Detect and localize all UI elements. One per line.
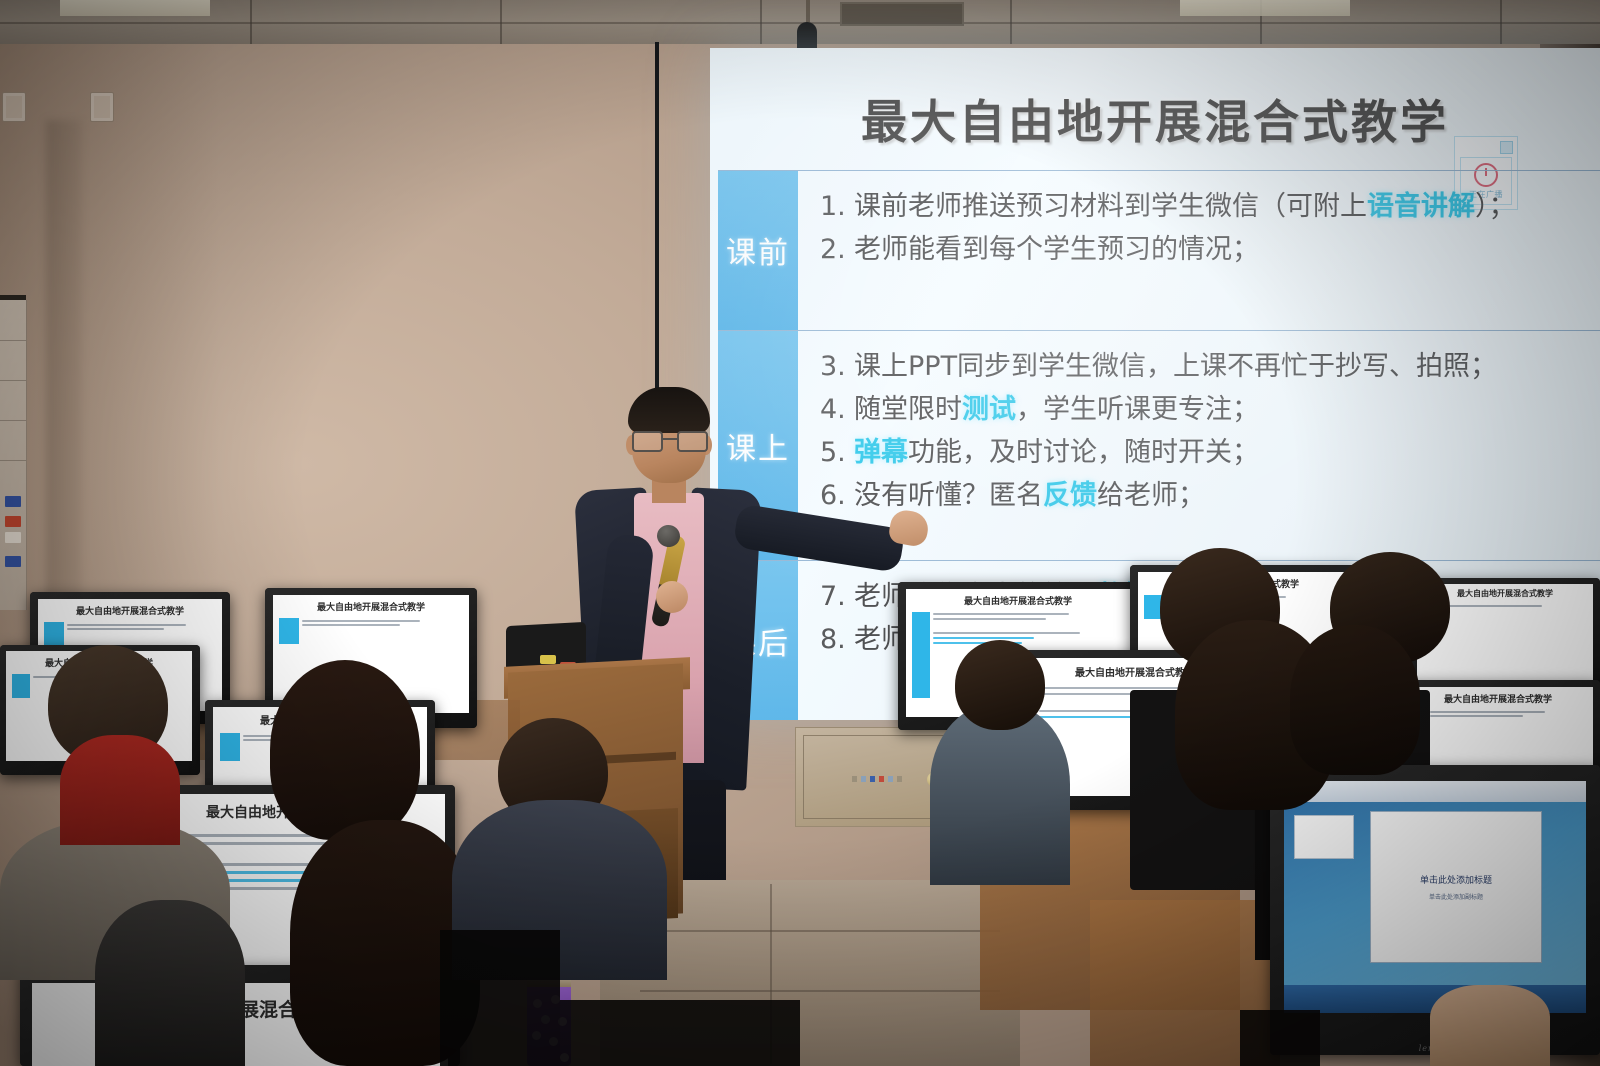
notice-chip	[5, 556, 21, 567]
audience-hand	[1430, 985, 1550, 1066]
slide-section-row: 课前1.课前老师推送预习材料到学生微信（可附上语音讲解）；2.老师能看到每个学生…	[718, 170, 1600, 330]
audience-head	[1290, 625, 1420, 775]
wall-outlet	[2, 92, 26, 122]
bullet-plain: 课上PPT同步到学生微信，上课不再忙于抄写、拍照；	[854, 351, 1497, 382]
foreground-shadow	[560, 1000, 800, 1066]
bullet-number: 1.	[820, 185, 854, 228]
badge-square-icon	[1500, 141, 1513, 154]
presenter-glasses	[632, 431, 706, 448]
bullet-number: 3.	[820, 345, 854, 388]
audience-head	[955, 640, 1045, 730]
audience-clothing-red	[60, 735, 180, 845]
bullet-highlight: 反馈	[1043, 480, 1097, 511]
bullet-plain: 给老师；	[1097, 480, 1205, 511]
bullet-text: 老师能看到每个学生预习的情况；	[854, 228, 1259, 271]
bullet-highlight: 语音讲解	[1367, 191, 1475, 222]
slide-bullet: 1.课前老师推送预习材料到学生微信（可附上语音讲解）；	[820, 185, 1584, 228]
slide-bullet: 5.弹幕功能，及时讨论，随时开关；	[820, 431, 1584, 474]
bullet-plain: 老师能看到每个学生预习的情况；	[854, 234, 1259, 265]
foreground-shadow	[1240, 1010, 1320, 1066]
slide-bullet: 4.随堂限时测试，学生听课更专注；	[820, 388, 1584, 431]
panel-indicator-dots	[852, 776, 902, 782]
notice-chip	[5, 532, 21, 543]
monitor-slide-title: 最大自由地开展混合式教学	[38, 599, 222, 617]
presenter-left-hand	[656, 581, 688, 613]
notice-board	[0, 300, 27, 610]
monitor-slide-title: 最大自由地开展混合式教学	[1403, 687, 1593, 705]
bullet-plain: ）；	[1475, 191, 1516, 222]
slide-bullet: 6.没有听懂？匿名反馈给老师；	[820, 474, 1584, 517]
presenter-hair	[628, 387, 710, 433]
powerpoint-slide-area[interactable]: 单击此处添加标题 单击此处添加副标题	[1370, 811, 1542, 963]
notice-chip	[5, 496, 21, 507]
foreground-shadow	[440, 930, 560, 1066]
audience-shoulders	[930, 705, 1070, 885]
desktop-side-panel	[1294, 815, 1354, 859]
ppt-title-placeholder: 单击此处添加标题	[1420, 873, 1492, 886]
bullet-text: 课上PPT同步到学生微信，上课不再忙于抄写、拍照；	[854, 345, 1497, 388]
lectern-item	[540, 655, 556, 664]
slide-bullet: 2.老师能看到每个学生预习的情况；	[820, 228, 1584, 271]
ceiling-light	[60, 0, 210, 16]
slide-section-items: 1.课前老师推送预习材料到学生微信（可附上语音讲解）；2.老师能看到每个学生预习…	[798, 171, 1600, 330]
wall-outlet	[90, 92, 114, 122]
audience-shoulders	[95, 900, 245, 1066]
slide-section-label: 课前	[718, 171, 798, 330]
monitor-slide-title: 最大自由地开展混合式教学	[273, 595, 469, 613]
bullet-highlight: 测试	[962, 394, 1016, 425]
window-titlebar[interactable]	[1284, 781, 1586, 802]
bullet-text: 课前老师推送预习材料到学生微信（可附上语音讲解）；	[854, 185, 1516, 228]
bullet-plain: 课前老师推送预习材料到学生微信（可附上	[854, 191, 1367, 222]
classroom-scene: 最大自由地开展混合式教学 正在广播 课前1.课前老师推送预习材料到学生微信（可附…	[0, 0, 1600, 1066]
ppt-subtitle-placeholder: 单击此处添加副标题	[1429, 892, 1483, 901]
monitor-slide-title: 最大自由地开展混合式教学	[906, 589, 1130, 607]
notice-chip	[5, 516, 21, 527]
bullet-number: 2.	[820, 228, 854, 271]
ceiling-light	[1180, 0, 1350, 16]
bullet-plain: ，学生听课更专注；	[1016, 394, 1259, 425]
ceiling-vent	[840, 2, 964, 26]
bullet-plain: 功能，及时讨论，随时开关；	[908, 437, 1259, 468]
slide-bullet: 3.课上PPT同步到学生微信，上课不再忙于抄写、拍照；	[820, 345, 1584, 388]
presenter-right-arm	[733, 503, 906, 573]
audience-head	[270, 660, 420, 840]
windows-desktop: 单击此处添加标题 单击此处添加副标题	[1284, 781, 1586, 1013]
